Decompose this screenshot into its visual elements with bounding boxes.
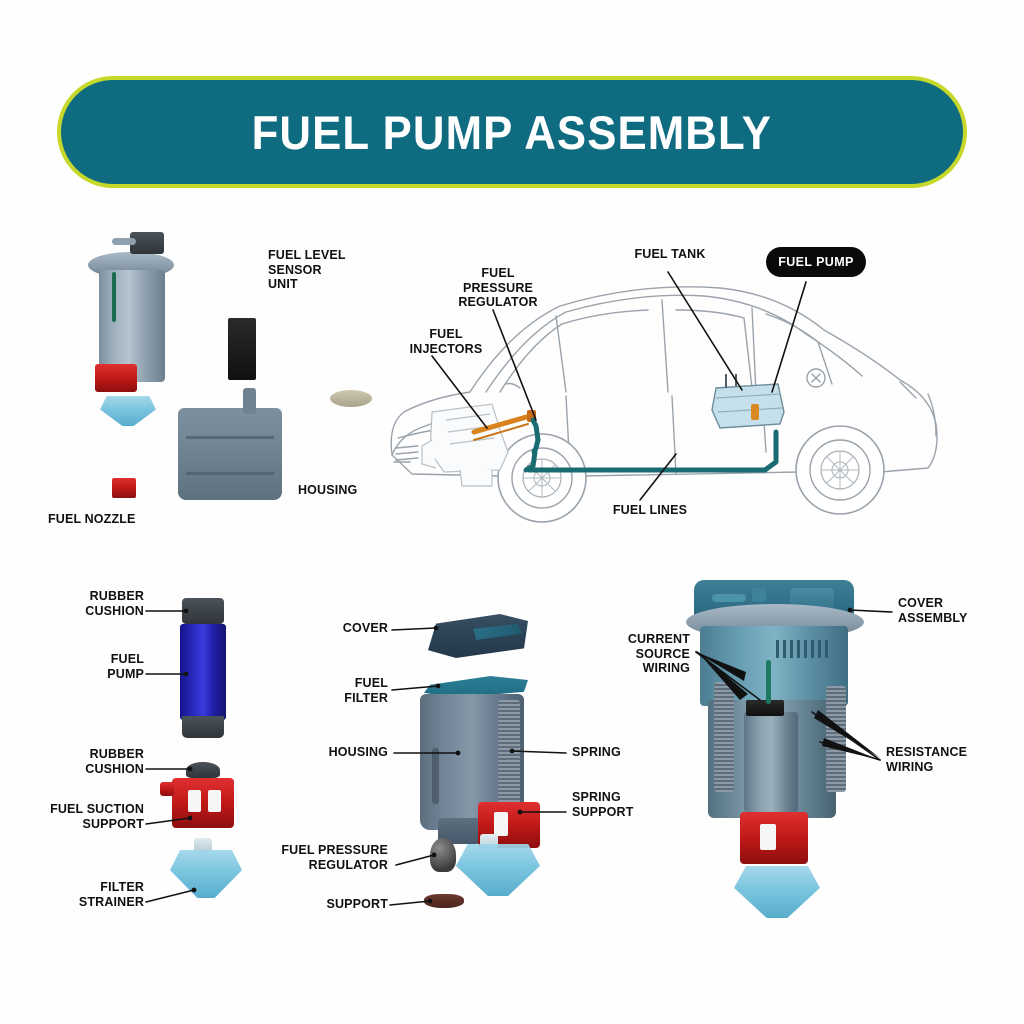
page-title: FUEL PUMP ASSEMBLY bbox=[252, 105, 772, 160]
label-filter-strainer: FILTER STRAINER bbox=[26, 880, 144, 909]
label-fuel-pump-left: FUEL PUMP bbox=[26, 652, 144, 681]
fuel-lines-path bbox=[526, 420, 776, 470]
module-housing-ribs bbox=[186, 436, 274, 439]
assembly-filter-strainer bbox=[734, 866, 820, 918]
support-part bbox=[424, 894, 464, 908]
label-fuel-pressure-regulator-mid: FUEL PRESSURE REGULATOR bbox=[264, 843, 388, 872]
engine-block bbox=[422, 404, 508, 486]
label-fuel-pump-badge[interactable]: FUEL PUMP bbox=[766, 247, 866, 277]
fuel-suction-support-window-2 bbox=[208, 790, 221, 812]
assembly-pump-can bbox=[744, 712, 798, 812]
fuel-pump-base-cap bbox=[182, 716, 224, 738]
fuel-suction-support-nipple bbox=[160, 782, 174, 796]
label-rubber-cushion-1: RUBBER CUSHION bbox=[26, 589, 144, 618]
fuel-pressure-regulator-part bbox=[430, 838, 456, 872]
cover-assembly-tube bbox=[712, 594, 746, 602]
label-fuel-suction-support: FUEL SUCTION SUPPORT bbox=[16, 802, 144, 831]
label-spring: SPRING bbox=[572, 745, 672, 760]
label-fuel-injectors: FUEL INJECTORS bbox=[398, 327, 494, 356]
spring-part bbox=[498, 700, 520, 804]
diagram-canvas: FUEL PUMP ASSEMBLY FUEL LEVEL SENSOR UNI… bbox=[0, 0, 1024, 1024]
current-source-wire bbox=[766, 660, 771, 704]
module-filter-strainer bbox=[100, 396, 156, 426]
cover-assembly-nipple bbox=[752, 588, 766, 602]
fuel-level-sensor-block bbox=[228, 318, 256, 380]
label-fuel-nozzle: FUEL NOZZLE bbox=[48, 512, 168, 527]
assembly-vent-slots bbox=[776, 640, 832, 658]
label-fuel-tank: FUEL TANK bbox=[620, 247, 720, 262]
label-cover: COVER bbox=[284, 621, 388, 636]
label-rubber-cushion-2: RUBBER CUSHION bbox=[26, 747, 144, 776]
fuel-pump-body bbox=[180, 624, 226, 720]
module-housing-ribs-2 bbox=[186, 472, 274, 475]
filter-strainer-neck bbox=[194, 838, 212, 852]
label-support: SUPPORT bbox=[284, 897, 388, 912]
fuel-pump-badge-text: FUEL PUMP bbox=[778, 255, 854, 269]
fuel-suction-support bbox=[172, 778, 234, 828]
assembly-red-window bbox=[760, 824, 776, 850]
fuel-suction-support-window bbox=[188, 790, 201, 812]
sensor-float bbox=[330, 390, 372, 407]
label-resistance-wiring: RESISTANCE WIRING bbox=[886, 745, 1006, 774]
fuel-nozzle-part bbox=[112, 478, 136, 498]
fuel-tank-part bbox=[712, 374, 784, 428]
assembly-spring-left bbox=[714, 682, 734, 792]
header-banner: FUEL PUMP ASSEMBLY bbox=[57, 76, 967, 188]
module-red-connector bbox=[95, 364, 137, 392]
rubber-cushion-lower bbox=[186, 762, 220, 778]
module-wire-harness bbox=[112, 272, 116, 322]
module-housing-box bbox=[178, 408, 282, 500]
housing-groove bbox=[432, 748, 439, 804]
fuel-rail-injectors bbox=[474, 410, 536, 440]
assembly-spring-right bbox=[826, 686, 846, 792]
label-cover-assembly: COVER ASSEMBLY bbox=[898, 596, 1006, 625]
label-fuel-level-sensor-unit: FUEL LEVEL SENSOR UNIT bbox=[268, 248, 378, 292]
module-housing-post bbox=[243, 388, 256, 414]
label-fuel-pressure-regulator-car: FUEL PRESSURE REGULATOR bbox=[442, 266, 554, 310]
label-spring-support: SPRING SUPPORT bbox=[572, 790, 672, 819]
middle-red-window bbox=[494, 812, 508, 836]
label-fuel-lines: FUEL LINES bbox=[600, 503, 700, 518]
module-inlet-tube bbox=[112, 238, 136, 245]
rubber-cushion-top bbox=[182, 598, 224, 624]
label-fuel-filter: FUEL FILTER bbox=[284, 676, 388, 705]
middle-filter-strainer bbox=[456, 844, 540, 896]
label-current-source-wiring: CURRENT SOURCE WIRING bbox=[584, 632, 690, 676]
filter-strainer-left bbox=[170, 850, 242, 898]
label-housing-mid: HOUSING bbox=[284, 745, 388, 760]
label-housing-top: HOUSING bbox=[298, 483, 408, 498]
assembly-connector-block bbox=[746, 700, 784, 716]
